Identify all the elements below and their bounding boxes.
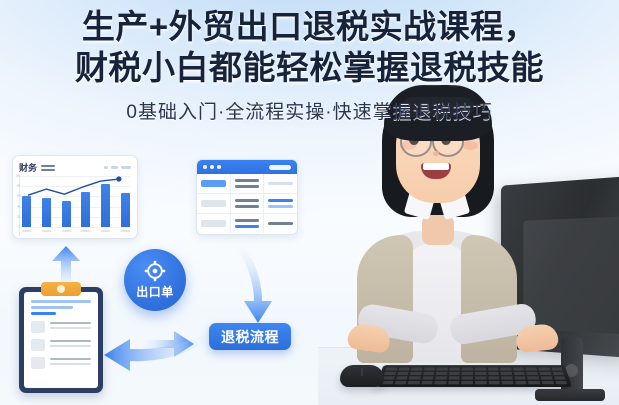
chart-x-axis (22, 228, 130, 235)
hamburger-icon (41, 165, 55, 171)
doc-progress-line (31, 312, 56, 315)
arrow-down-curved-icon (232, 243, 290, 327)
list-item (31, 357, 91, 369)
list-item (31, 339, 91, 351)
thumbnail-placeholder (31, 357, 45, 369)
chart-trend-line (20, 176, 131, 227)
browser-dot-icon (203, 165, 207, 169)
finance-chart-card[interactable]: 财务 1008060 40200 (12, 155, 138, 239)
chart-plot-area: 1008060 40200 (19, 176, 131, 236)
browser-dot-icon (217, 165, 221, 169)
computer-mouse[interactable] (340, 365, 384, 387)
monitor-base (535, 389, 605, 401)
refund-process-button[interactable]: 退税流程 (209, 323, 291, 350)
headline-line-2: 财税小白都能轻松掌握退税技能 (0, 49, 619, 88)
table-cell (264, 174, 297, 193)
table-cell (197, 214, 231, 233)
poster-canvas: 生产+外贸出口退税实战课程， 财税小白都能轻松掌握退税技能 0基础入门·全流程实… (0, 0, 619, 405)
table-cell (231, 174, 265, 193)
nose (433, 151, 439, 156)
item-lines (50, 339, 91, 347)
infographic-group: 财务 1008060 40200 (0, 145, 320, 405)
clipboard-page (24, 292, 98, 388)
clipboard-document[interactable] (19, 287, 103, 393)
item-lines (50, 321, 91, 329)
badge-label: 出口单 (136, 283, 174, 300)
browser-table (197, 174, 297, 233)
vest-right (461, 235, 517, 363)
clipboard-clip-icon (41, 282, 81, 296)
table-row (197, 194, 297, 214)
table-row (197, 214, 297, 233)
table-cell (231, 194, 265, 213)
keyboard[interactable] (376, 365, 572, 387)
table-cell (197, 194, 231, 213)
window-dots-icon (104, 166, 131, 169)
item-lines (50, 357, 91, 365)
table-cell (264, 214, 297, 233)
headline-block: 生产+外贸出口退税实战课程， 财税小白都能轻松掌握退税技能 0基础入门·全流程实… (0, 8, 619, 124)
list-item (31, 321, 91, 333)
doc-line (31, 300, 91, 303)
keyboard-row (381, 381, 567, 384)
browser-dot-icon (210, 165, 214, 169)
address-bar-icon (269, 165, 291, 170)
neck (422, 215, 454, 245)
headline-line-1: 生产+外贸出口退税实战课程， (0, 8, 619, 47)
keyboard-row (384, 372, 564, 375)
headline-subtitle: 0基础入门·全流程实操·快速掌握退税技巧 (0, 97, 619, 124)
doc-line (31, 306, 73, 309)
keyboard-row (385, 368, 562, 371)
table-cell (231, 214, 265, 233)
browser-title-bar (197, 160, 297, 174)
arrow-left-curved-icon (98, 330, 216, 374)
export-form-badge[interactable]: 出口单 (124, 249, 186, 311)
keyboard-row (382, 376, 565, 379)
table-row (197, 174, 297, 194)
cheek-right (462, 141, 478, 150)
thumbnail-placeholder (31, 321, 45, 333)
thumbnail-placeholder (31, 339, 45, 351)
chart-card-header: 财务 (19, 161, 131, 173)
table-cell (264, 194, 297, 213)
gear-target-icon (144, 260, 166, 282)
chart-y-axis: 1008060 40200 (11, 176, 20, 227)
table-cell (197, 174, 231, 193)
declaration-system-card[interactable] (196, 159, 298, 235)
chart-card-title: 财务 (19, 161, 37, 174)
